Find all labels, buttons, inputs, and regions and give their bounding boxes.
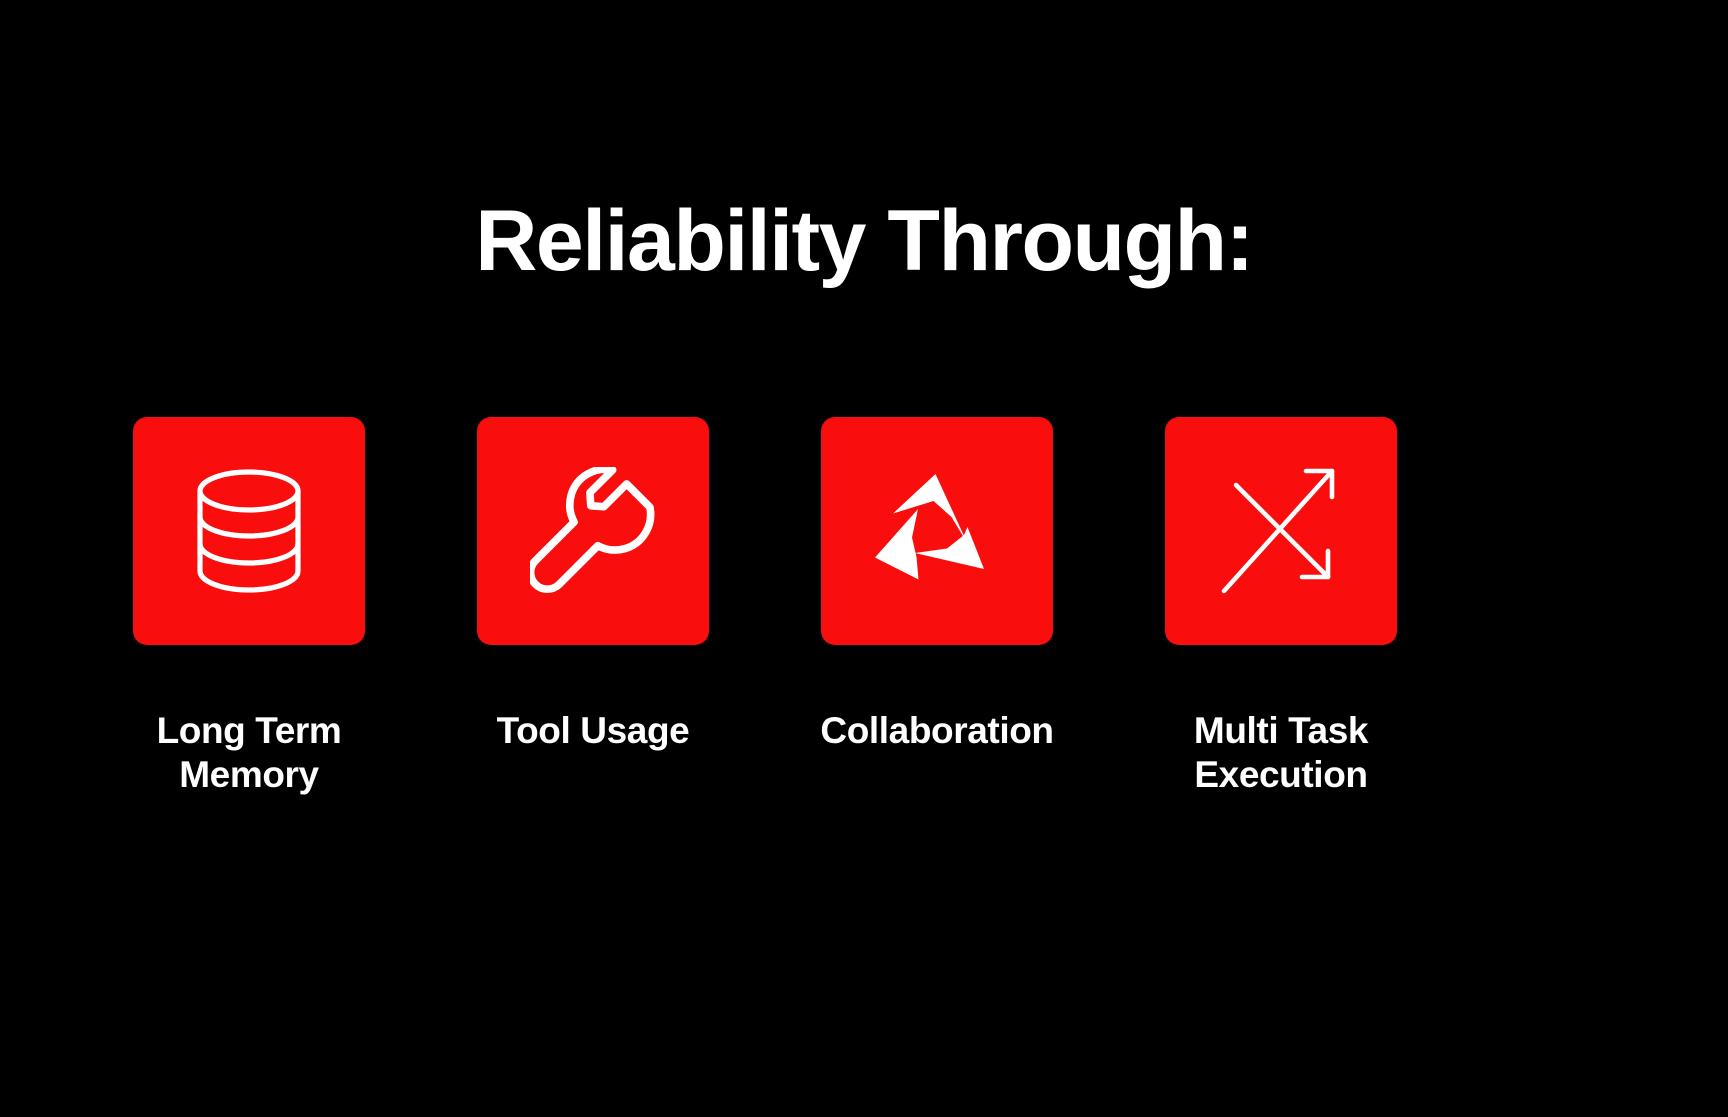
database-icon bbox=[190, 466, 308, 596]
icon-tile bbox=[477, 417, 709, 645]
feature-card-label: Tool Usage bbox=[497, 709, 690, 753]
slide-root: Reliability Through: Long Term Memory bbox=[0, 0, 1728, 1117]
feature-card-label: Long Term Memory bbox=[157, 709, 342, 796]
feature-card-collaboration[interactable]: Collaboration bbox=[821, 417, 1053, 753]
icon-tile bbox=[133, 417, 365, 645]
feature-card-label: Collaboration bbox=[820, 709, 1053, 753]
shuffle-arrows-icon bbox=[1218, 465, 1344, 597]
icon-tile bbox=[821, 417, 1053, 645]
feature-card-label: Multi Task Execution bbox=[1194, 709, 1368, 796]
feature-card-long-term-memory[interactable]: Long Term Memory bbox=[133, 417, 365, 796]
page-title: Reliability Through: bbox=[0, 196, 1728, 286]
feature-card-tool-usage[interactable]: Tool Usage bbox=[477, 417, 709, 753]
feature-card-multi-task-execution[interactable]: Multi Task Execution bbox=[1165, 417, 1397, 796]
feature-card-row: Long Term Memory Tool Usage bbox=[133, 417, 1595, 796]
icon-tile bbox=[1165, 417, 1397, 645]
collaboration-cycle-icon bbox=[871, 465, 1003, 597]
wrench-icon bbox=[530, 467, 656, 595]
